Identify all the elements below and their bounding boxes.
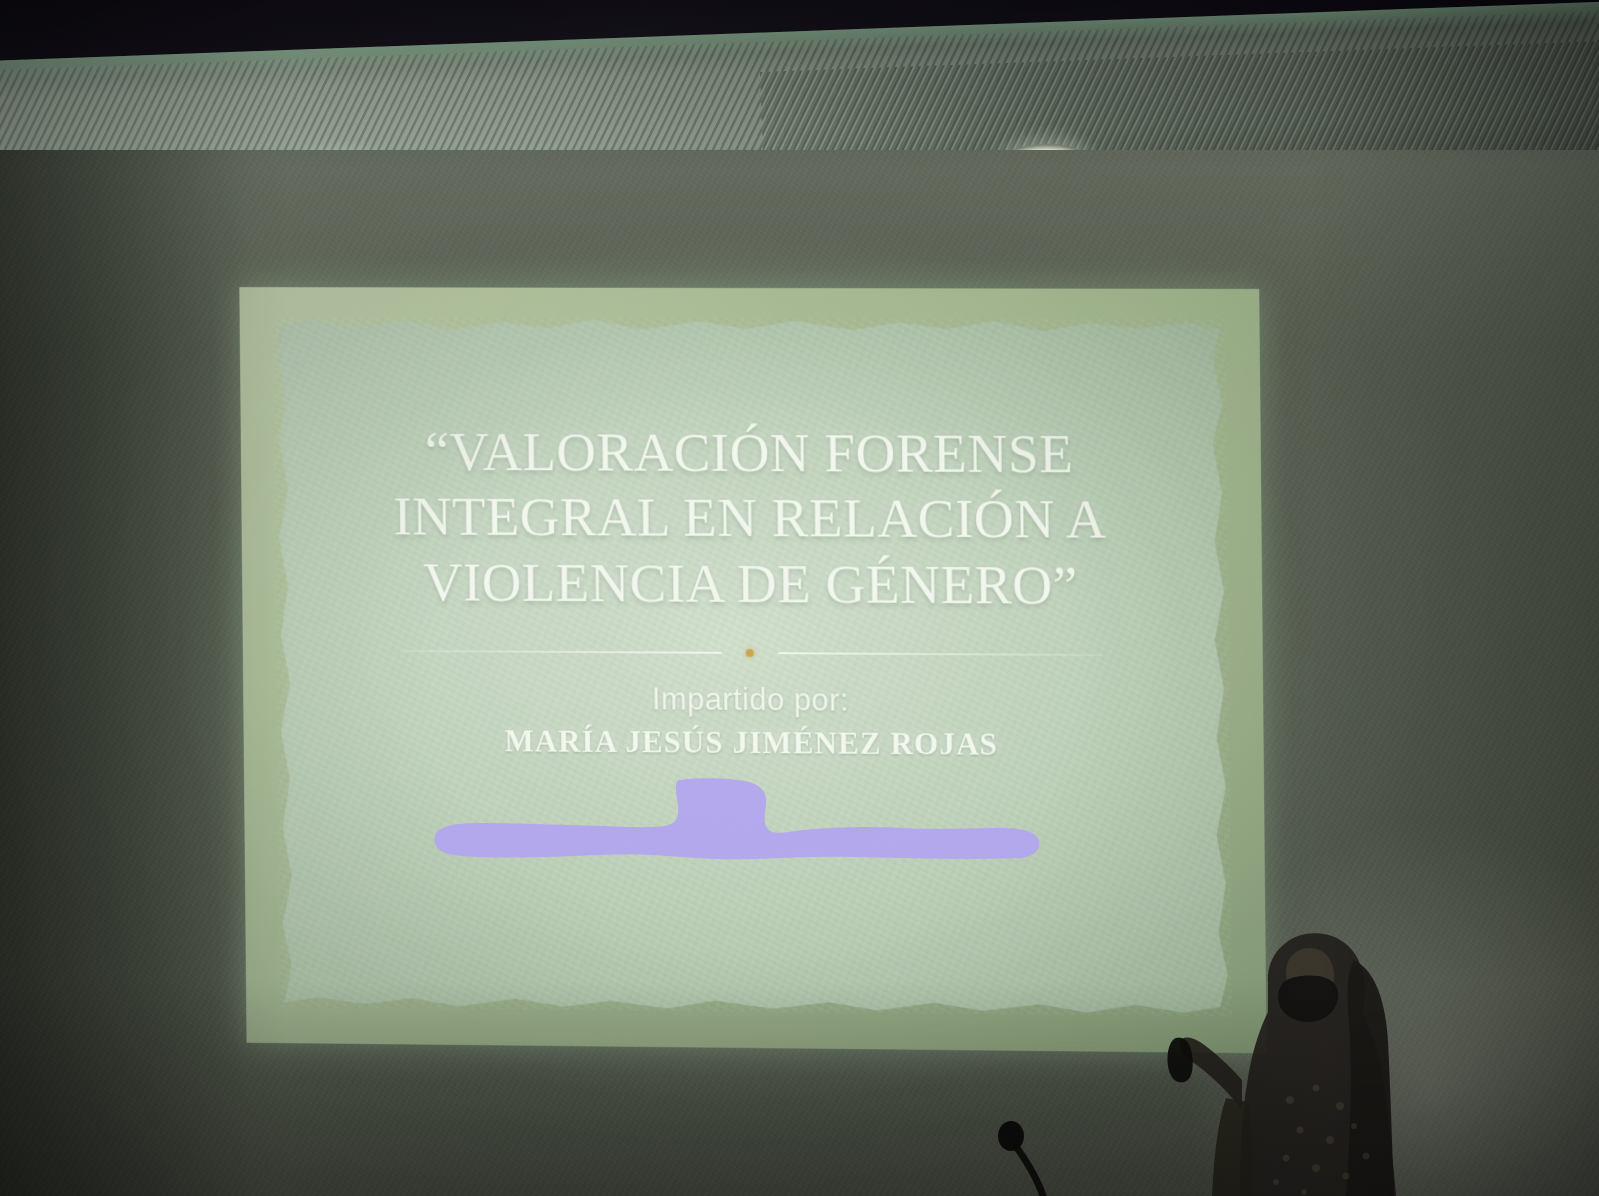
slide-title-line-1: “VALORACIÓN FORENSE xyxy=(306,419,1195,488)
slide-title: “VALORACIÓN FORENSE INTEGRAL EN RELACIÓN… xyxy=(300,419,1202,619)
slide-content: “VALORACIÓN FORENSE INTEGRAL EN RELACIÓN… xyxy=(300,419,1203,765)
wall-left-shadow xyxy=(0,150,250,1196)
divider-rule-right xyxy=(778,652,1102,656)
title-divider xyxy=(400,644,1102,662)
slide-title-line-2: INTEGRAL EN RELACIÓN A xyxy=(307,484,1196,553)
dot-ornament-icon xyxy=(746,649,754,657)
slide-title-line-3: VIOLENCIA DE GÉNERO” xyxy=(307,549,1196,619)
photo-scene: “VALORACIÓN FORENSE INTEGRAL EN RELACIÓN… xyxy=(0,0,1599,1196)
projected-slide: “VALORACIÓN FORENSE INTEGRAL EN RELACIÓN… xyxy=(239,287,1266,1053)
presenter-name: MARÍA JESÚS JIMÉNEZ ROJAS xyxy=(303,722,1203,764)
byline-label: Impartido por: xyxy=(302,680,1202,722)
divider-rule-left xyxy=(400,650,722,654)
